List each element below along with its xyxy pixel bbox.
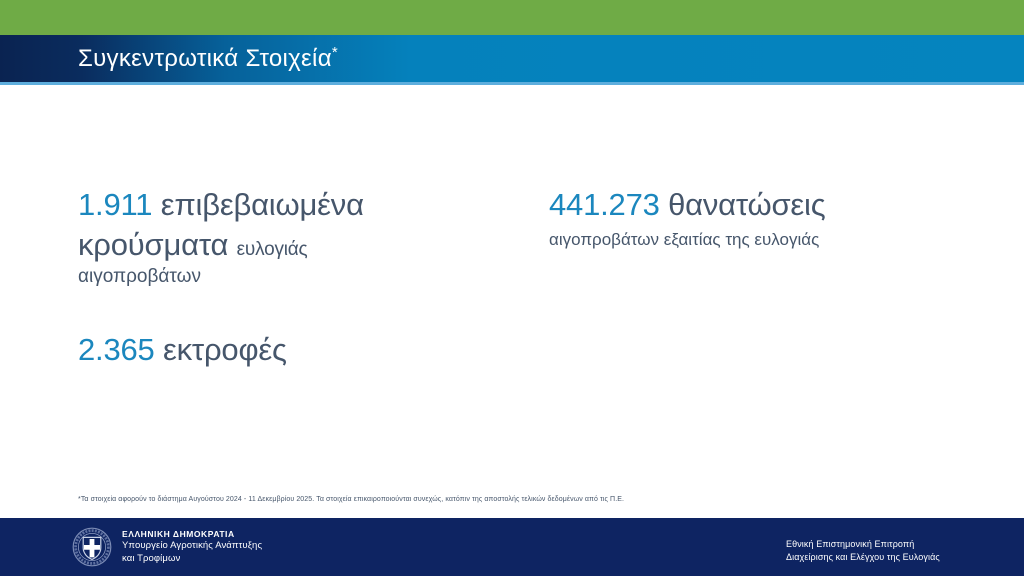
stat-line: 2.365 εκτροφές (78, 330, 508, 370)
greek-coat-of-arms-icon (72, 527, 112, 567)
stat-line: 441.273 θανατώσεις (549, 185, 969, 225)
page-title-text: Συγκεντρωτικά Στοιχεία (78, 45, 332, 72)
title-band: Συγκεντρωτικά Στοιχεία* (0, 35, 1024, 82)
stat-value: 441.273 (549, 187, 660, 222)
stat-label: θανατώσεις (668, 187, 825, 222)
committee-line-1: Εθνική Επιστημονική Επιτροπή (786, 538, 940, 551)
stat-value: 2.365 (78, 332, 155, 367)
stats-column-left: 1.911 επιβεβαιωμένα κρούσματα ευλογιάς α… (78, 185, 508, 386)
stat-sub: αιγοπροβάτων (78, 264, 508, 290)
slide-content: 1.911 επιβεβαιωμένα κρούσματα ευλογιάς α… (0, 85, 1024, 493)
footer-ministry-block: ΕΛΛΗΝΙΚΗ ΔΗΜΟΚΡΑΤΙΑ Υπουργείο Αγροτικής … (72, 527, 262, 567)
footnote: *Τα στοιχεία αφορούν το διάστημα Αυγούστ… (78, 496, 958, 504)
stat-line: 1.911 επιβεβαιωμένα κρούσματα ευλογιάς (78, 185, 508, 264)
stat-farms: 2.365 εκτροφές (78, 330, 508, 370)
stat-spacer (78, 306, 508, 330)
stat-label: εκτροφές (163, 332, 287, 367)
ministry-text: ΕΛΛΗΝΙΚΗ ΔΗΜΟΚΡΑΤΙΑ Υπουργείο Αγροτικής … (122, 529, 262, 565)
green-accent-band (0, 0, 1024, 35)
stat-sub-inline: ευλογιάς (237, 239, 308, 260)
page-title: Συγκεντρωτικά Στοιχεία* (78, 47, 338, 71)
committee-line-2: Διαχείρισης και Ελέγχου της Ευλογιάς (786, 551, 940, 564)
page-title-asterisk: * (332, 44, 338, 61)
ministry-line-3: και Τροφίμων (122, 553, 262, 566)
stat-confirmed-cases: 1.911 επιβεβαιωμένα κρούσματα ευλογιάς α… (78, 185, 508, 290)
stat-culled-animals: 441.273 θανατώσεις αιγοπροβάτων εξαιτίας… (549, 185, 969, 252)
stats-column-right: 441.273 θανατώσεις αιγοπροβάτων εξαιτίας… (549, 185, 969, 268)
footer-bar: ΕΛΛΗΝΙΚΗ ΔΗΜΟΚΡΑΤΙΑ Υπουργείο Αγροτικής … (0, 518, 1024, 576)
footer-committee-block: Εθνική Επιστημονική Επιτροπή Διαχείρισης… (786, 538, 940, 564)
ministry-line-2: Υπουργείο Αγροτικής Ανάπτυξης (122, 540, 262, 553)
stat-value: 1.911 (78, 187, 152, 222)
stat-sub: αιγοπροβάτων εξαιτίας της ευλογιάς (549, 229, 969, 252)
ministry-line-1: ΕΛΛΗΝΙΚΗ ΔΗΜΟΚΡΑΤΙΑ (122, 529, 262, 540)
